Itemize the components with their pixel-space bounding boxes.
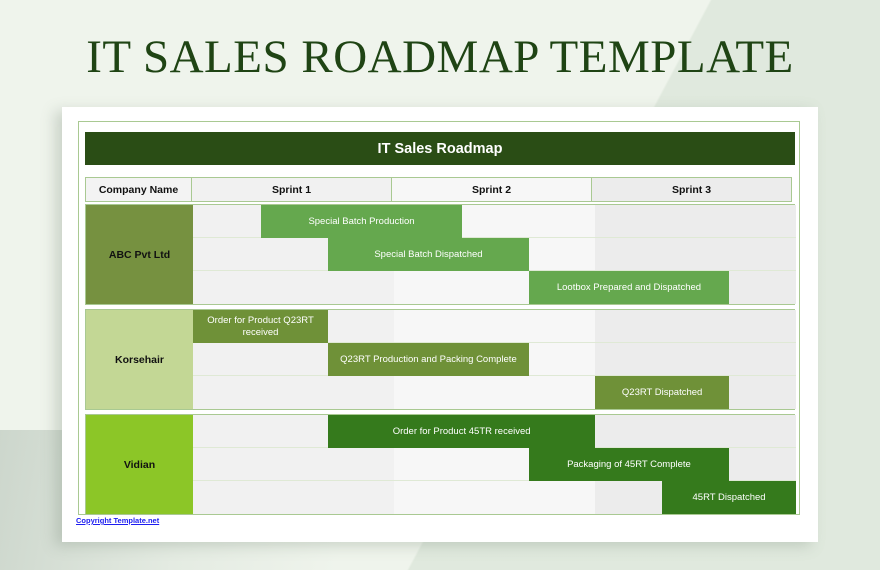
column-header-row: Company Name Sprint 1 Sprint 2 Sprint 3 [85, 177, 795, 202]
column-header-company-name: Company Name [85, 177, 192, 202]
task-row: Packaging of 45RT Complete [193, 448, 796, 481]
sprint-3-cell [595, 310, 796, 342]
task-row: Lootbox Prepared and Dispatched [193, 271, 796, 304]
task-bar[interactable]: Special Batch Production [261, 205, 462, 238]
task-bar[interactable]: Order for Product Q23RT received [193, 310, 328, 343]
task-bar[interactable]: Q23RT Dispatched [595, 376, 729, 409]
task-row: Q23RT Dispatched [193, 376, 796, 409]
company-name-cell: ABC Pvt Ltd [86, 205, 193, 304]
task-rows-wrapper: Order for Product Q23RT received Q23RT P… [193, 310, 796, 409]
task-bar[interactable]: Order for Product 45TR received [328, 415, 595, 448]
sprint-1-cell [193, 481, 394, 514]
roadmap-grid: ABC Pvt Ltd Special Batch Production Spe… [85, 204, 795, 519]
task-rows-wrapper: Order for Product 45TR received Packagin… [193, 415, 796, 514]
sprint-2-cell [394, 376, 595, 409]
company-name-cell: Vidian [86, 415, 193, 514]
roadmap-banner: IT Sales Roadmap [85, 132, 795, 165]
task-bar[interactable]: Lootbox Prepared and Dispatched [529, 271, 729, 304]
task-bar[interactable]: 45RT Dispatched [662, 481, 796, 514]
task-bar[interactable]: Q23RT Production and Packing Complete [328, 343, 529, 376]
sprint-1-cell [193, 448, 394, 480]
column-header-sprint-2: Sprint 2 [391, 177, 592, 202]
column-header-sprint-1: Sprint 1 [191, 177, 392, 202]
task-bar[interactable]: Packaging of 45RT Complete [529, 448, 729, 481]
company-block: Vidian Order for Product 45TR received P… [85, 414, 795, 515]
copyright-link[interactable]: Copyright Template.net [76, 516, 159, 525]
company-block: ABC Pvt Ltd Special Batch Production Spe… [85, 204, 795, 305]
task-row: Special Batch Dispatched [193, 238, 796, 271]
task-bar[interactable]: Special Batch Dispatched [328, 238, 529, 271]
company-name-cell: Korsehair [86, 310, 193, 409]
sprint-1-cell [193, 271, 394, 304]
sprint-3-cell [595, 238, 796, 270]
sprint-2-cell [394, 310, 595, 342]
company-block: Korsehair Order for Product Q23RT receiv… [85, 309, 795, 410]
sprint-1-cell [193, 376, 394, 409]
task-row: 45RT Dispatched [193, 481, 796, 514]
task-rows-wrapper: Special Batch Production Special Batch D… [193, 205, 796, 304]
sprint-3-cell [595, 415, 796, 447]
task-row: Special Batch Production [193, 205, 796, 238]
task-row: Order for Product Q23RT received [193, 310, 796, 343]
column-header-sprint-3: Sprint 3 [591, 177, 792, 202]
sprint-2-cell [394, 481, 595, 514]
page-title: IT SALES ROADMAP TEMPLATE [0, 30, 880, 84]
sprint-3-cell [595, 343, 796, 375]
sprint-3-cell [595, 205, 796, 237]
task-row: Order for Product 45TR received [193, 415, 796, 448]
task-row: Q23RT Production and Packing Complete [193, 343, 796, 376]
